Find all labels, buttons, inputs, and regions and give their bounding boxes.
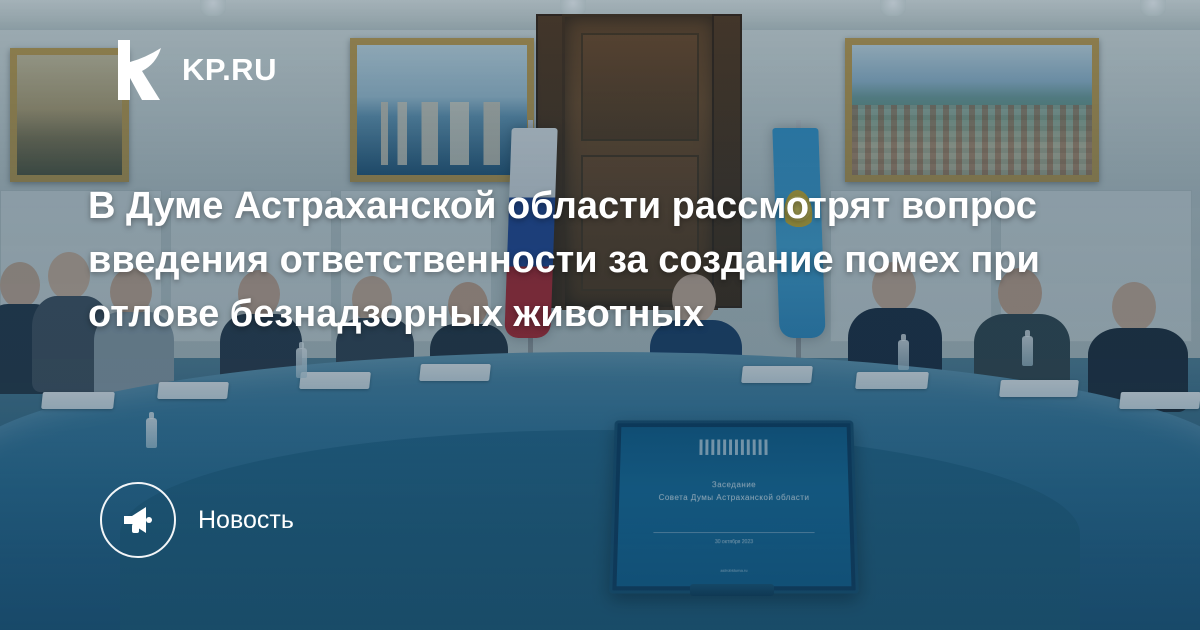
megaphone-icon [120,504,156,536]
brand-name: KP.RU [182,52,277,88]
brand-lockup[interactable]: KP.RU [112,38,277,102]
news-badge[interactable]: Новость [100,482,294,558]
headline-text: В Думе Астраханской области рассмотрят в… [88,180,1108,342]
kp-bird-logo-icon [112,38,164,102]
badge-circle [100,482,176,558]
badge-label: Новость [198,506,294,535]
news-share-card: Заседание Совета Думы Астраханской облас… [0,0,1200,630]
